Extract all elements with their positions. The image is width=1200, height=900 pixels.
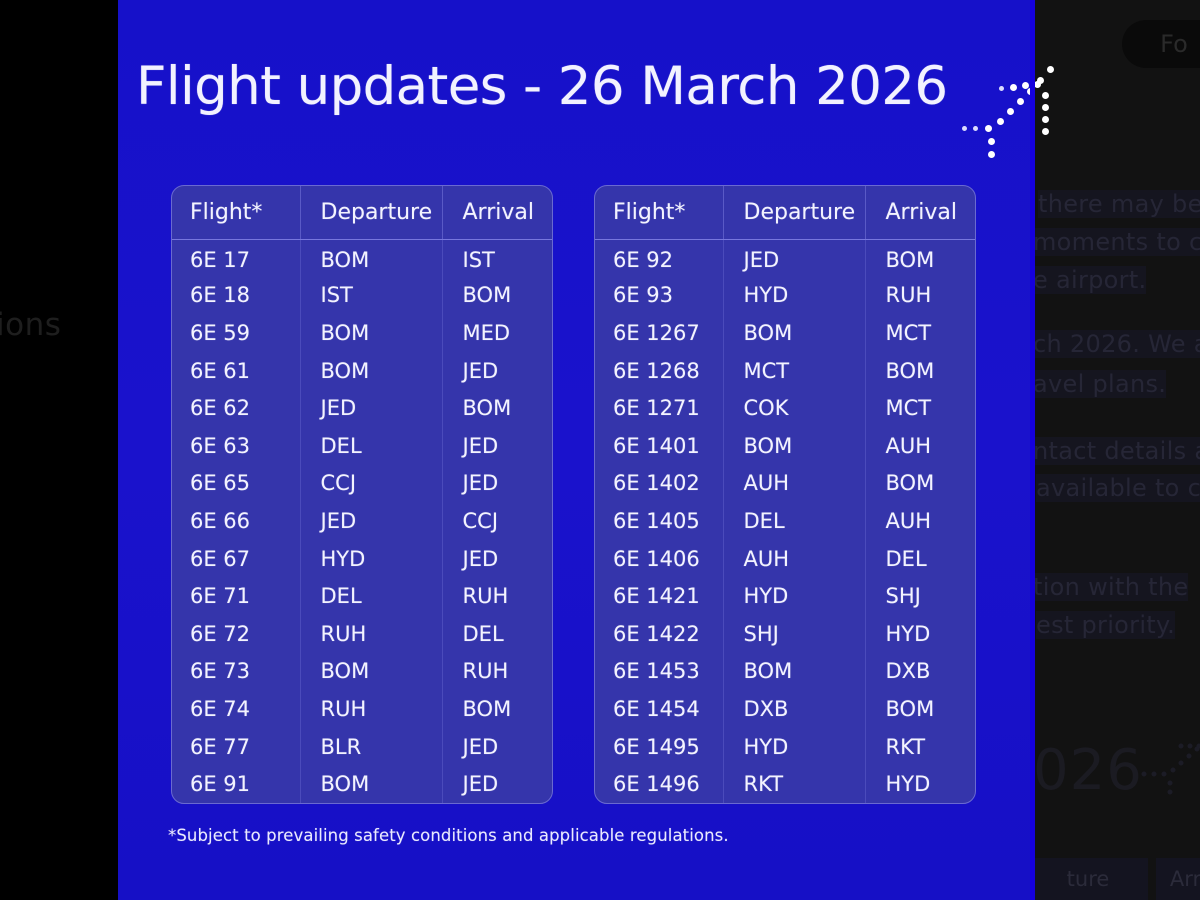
- departure-cell: JED: [723, 239, 865, 277]
- screenshot-root: ions Fo there may be moments to che e ai…: [0, 0, 1200, 900]
- arrival-cell: SHJ: [865, 577, 976, 615]
- backdrop-text-fragment-9: est priority.: [1036, 611, 1175, 639]
- arrival-cell: RUH: [442, 577, 553, 615]
- flight-cell: 6E 1453: [595, 653, 723, 691]
- flight-cell: 6E 77: [172, 728, 300, 766]
- flight-cell: 6E 1402: [595, 465, 723, 503]
- departure-cell: AUH: [723, 465, 865, 503]
- table-row[interactable]: 6E 17BOMIST: [172, 239, 553, 277]
- table-row[interactable]: 6E 73BOMRUH: [172, 653, 553, 691]
- backdrop-text-fragment-5: avel plans.: [1033, 370, 1166, 398]
- table-row[interactable]: 6E 1271COKMCT: [595, 389, 976, 427]
- flight-cell: 6E 74: [172, 690, 300, 728]
- table-row[interactable]: 6E 1406AUHDEL: [595, 540, 976, 578]
- column-header-departure[interactable]: Departure: [300, 186, 442, 239]
- table-row[interactable]: 6E 1405DELAUH: [595, 502, 976, 540]
- arrival-cell: HYD: [865, 765, 976, 803]
- table-row[interactable]: 6E 59BOMMED: [172, 314, 553, 352]
- flight-cell: 6E 1271: [595, 389, 723, 427]
- flight-cell: 6E 63: [172, 427, 300, 465]
- table-row[interactable]: 6E 92JEDBOM: [595, 239, 976, 277]
- departure-cell: HYD: [723, 728, 865, 766]
- arrival-cell: MCT: [865, 314, 976, 352]
- table-header-row: Flight* Departure Arrival: [172, 186, 553, 239]
- arrival-cell: BOM: [865, 352, 976, 390]
- arrival-cell: JED: [442, 352, 553, 390]
- arrival-cell: CCJ: [442, 502, 553, 540]
- arrival-cell: JED: [442, 728, 553, 766]
- departure-cell: DEL: [723, 502, 865, 540]
- flight-cell: 6E 1421: [595, 577, 723, 615]
- arrival-cell: DXB: [865, 653, 976, 691]
- arrival-cell: DEL: [865, 540, 976, 578]
- flight-cell: 6E 1401: [595, 427, 723, 465]
- table-row[interactable]: 6E 1267BOMMCT: [595, 314, 976, 352]
- arrival-cell: RUH: [865, 277, 976, 315]
- arrival-cell: RKT: [865, 728, 976, 766]
- table-row[interactable]: 6E 18ISTBOM: [172, 277, 553, 315]
- table-row[interactable]: 6E 77BLRJED: [172, 728, 553, 766]
- arrival-cell: JED: [442, 465, 553, 503]
- table-row[interactable]: 6E 1495HYDRKT: [595, 728, 976, 766]
- departure-cell: JED: [300, 389, 442, 427]
- backdrop-text-fragment-8: tion with the: [1033, 573, 1188, 601]
- flight-cell: 6E 1495: [595, 728, 723, 766]
- table-row[interactable]: 6E 1453BOMDXB: [595, 653, 976, 691]
- table-row[interactable]: 6E 1401BOMAUH: [595, 427, 976, 465]
- flight-updates-card: Flight updates - 26 March 2026: [118, 0, 1030, 900]
- arrival-cell: IST: [442, 239, 553, 277]
- backdrop-text-fragment-3: e airport.: [1033, 266, 1146, 294]
- arrival-cell: AUH: [865, 502, 976, 540]
- departure-cell: BOM: [300, 765, 442, 803]
- arrival-cell: BOM: [442, 277, 553, 315]
- arrival-cell: JED: [442, 427, 553, 465]
- flight-cell: 6E 1405: [595, 502, 723, 540]
- flight-cell: 6E 93: [595, 277, 723, 315]
- backdrop-ghost-card: 026 ture Arrival: [1020, 700, 1200, 900]
- flight-cell: 6E 72: [172, 615, 300, 653]
- table-header-row: Flight* Departure Arrival: [595, 186, 976, 239]
- flight-cell: 6E 1422: [595, 615, 723, 653]
- table-row[interactable]: 6E 1402AUHBOM: [595, 465, 976, 503]
- arrival-cell: MCT: [865, 389, 976, 427]
- flight-table-right: Flight* Departure Arrival 6E 92JEDBOM6E …: [594, 185, 976, 804]
- table-row[interactable]: 6E 93HYDRUH: [595, 277, 976, 315]
- departure-cell: BOM: [723, 653, 865, 691]
- flight-cell: 6E 65: [172, 465, 300, 503]
- backdrop-ghost-title: 026: [1033, 738, 1143, 803]
- arrival-cell: DEL: [442, 615, 553, 653]
- departure-cell: BOM: [300, 352, 442, 390]
- departure-cell: BOM: [723, 427, 865, 465]
- flight-table-left-body: 6E 17BOMIST6E 18ISTBOM6E 59BOMMED6E 61BO…: [172, 239, 553, 803]
- table-row[interactable]: 6E 74RUHBOM: [172, 690, 553, 728]
- flight-cell: 6E 1268: [595, 352, 723, 390]
- departure-cell: DEL: [300, 427, 442, 465]
- table-row[interactable]: 6E 66JEDCCJ: [172, 502, 553, 540]
- departure-cell: DEL: [300, 577, 442, 615]
- flight-cell: 6E 73: [172, 653, 300, 691]
- column-header-flight[interactable]: Flight*: [172, 186, 300, 239]
- departure-cell: DXB: [723, 690, 865, 728]
- flight-table-right-body: 6E 92JEDBOM6E 93HYDRUH6E 1267BOMMCT6E 12…: [595, 239, 976, 803]
- arrival-cell: BOM: [442, 690, 553, 728]
- backdrop-ghost-header-departure: ture: [1028, 858, 1148, 900]
- flight-cell: 6E 92: [595, 239, 723, 277]
- departure-cell: JED: [300, 502, 442, 540]
- flight-cell: 6E 1454: [595, 690, 723, 728]
- departure-cell: AUH: [723, 540, 865, 578]
- flight-cell: 6E 62: [172, 389, 300, 427]
- follow-button[interactable]: Fo: [1122, 20, 1200, 68]
- arrival-cell: BOM: [865, 690, 976, 728]
- flight-table-left: Flight* Departure Arrival 6E 17BOMIST6E …: [171, 185, 553, 804]
- column-header-arrival[interactable]: Arrival: [865, 186, 976, 239]
- flight-cell: 6E 61: [172, 352, 300, 390]
- table-row[interactable]: 6E 72RUHDEL: [172, 615, 553, 653]
- departure-cell: COK: [723, 389, 865, 427]
- flight-cell: 6E 71: [172, 577, 300, 615]
- footnote: *Subject to prevailing safety conditions…: [168, 826, 729, 845]
- flight-tables: Flight* Departure Arrival 6E 17BOMIST6E …: [171, 185, 977, 804]
- table-row[interactable]: 6E 91BOMJED: [172, 765, 553, 803]
- arrival-cell: RUH: [442, 653, 553, 691]
- column-header-arrival[interactable]: Arrival: [442, 186, 553, 239]
- flight-cell: 6E 91: [172, 765, 300, 803]
- backdrop-text-fragment-2: moments to che: [1033, 228, 1200, 256]
- flight-cell: 6E 18: [172, 277, 300, 315]
- column-header-departure[interactable]: Departure: [723, 186, 865, 239]
- arrival-cell: JED: [442, 765, 553, 803]
- departure-cell: CCJ: [300, 465, 442, 503]
- table-row[interactable]: 6E 71DELRUH: [172, 577, 553, 615]
- card-header: Flight updates - 26 March 2026: [136, 56, 1058, 164]
- backdrop-text-fragment-7: available to c: [1036, 474, 1200, 502]
- table-row[interactable]: 6E 67HYDJED: [172, 540, 553, 578]
- backdrop-black-band-bottom-left: [0, 832, 118, 900]
- departure-cell: BOM: [300, 239, 442, 277]
- departure-cell: RUH: [300, 690, 442, 728]
- table-row[interactable]: 6E 61BOMJED: [172, 352, 553, 390]
- departure-cell: MCT: [723, 352, 865, 390]
- departure-cell: SHJ: [723, 615, 865, 653]
- backdrop-text-fragment-6: ntact details a: [1033, 437, 1200, 465]
- departure-cell: HYD: [723, 277, 865, 315]
- departure-cell: BOM: [300, 653, 442, 691]
- departure-cell: BOM: [723, 314, 865, 352]
- table-row[interactable]: 6E 63DELJED: [172, 427, 553, 465]
- arrival-cell: JED: [442, 540, 553, 578]
- flight-cell: 6E 59: [172, 314, 300, 352]
- departure-cell: HYD: [723, 577, 865, 615]
- flight-cell: 6E 66: [172, 502, 300, 540]
- departure-cell: RUH: [300, 615, 442, 653]
- table-row[interactable]: 6E 1496RKTHYD: [595, 765, 976, 803]
- backdrop-text-fragment-4: ch 2026. We a: [1033, 330, 1200, 358]
- table-row[interactable]: 6E 1268MCTBOM: [595, 352, 976, 390]
- table-row[interactable]: 6E 1422SHJHYD: [595, 615, 976, 653]
- table-row[interactable]: 6E 1421HYDSHJ: [595, 577, 976, 615]
- departure-cell: BOM: [300, 314, 442, 352]
- departure-cell: RKT: [723, 765, 865, 803]
- backdrop-black-band-left: [0, 0, 118, 900]
- page-title: Flight updates - 26 March 2026: [136, 56, 948, 118]
- flight-cell: 6E 67: [172, 540, 300, 578]
- departure-cell: HYD: [300, 540, 442, 578]
- dotted-arrow-icon: [1140, 730, 1200, 800]
- flight-cell: 6E 1496: [595, 765, 723, 803]
- backdrop-text-fragment-1: there may be: [1038, 190, 1200, 218]
- table-row[interactable]: 6E 62JEDBOM: [172, 389, 553, 427]
- arrival-cell: AUH: [865, 427, 976, 465]
- flight-cell: 6E 1267: [595, 314, 723, 352]
- arrival-cell: BOM: [442, 389, 553, 427]
- arrival-cell: BOM: [865, 239, 976, 277]
- table-row[interactable]: 6E 65CCJJED: [172, 465, 553, 503]
- backdrop-ghost-header-arrival: Arrival: [1156, 858, 1200, 900]
- flight-cell: 6E 17: [172, 239, 300, 277]
- arrival-cell: MED: [442, 314, 553, 352]
- arrival-cell: HYD: [865, 615, 976, 653]
- card-right-edge: [1030, 0, 1035, 900]
- column-header-flight[interactable]: Flight*: [595, 186, 723, 239]
- table-row[interactable]: 6E 1454DXBBOM: [595, 690, 976, 728]
- dotted-arrow-icon: [962, 52, 1058, 164]
- departure-cell: BLR: [300, 728, 442, 766]
- arrival-cell: BOM: [865, 465, 976, 503]
- backdrop-text-left-fragment: ions: [0, 307, 61, 343]
- flight-cell: 6E 1406: [595, 540, 723, 578]
- departure-cell: IST: [300, 277, 442, 315]
